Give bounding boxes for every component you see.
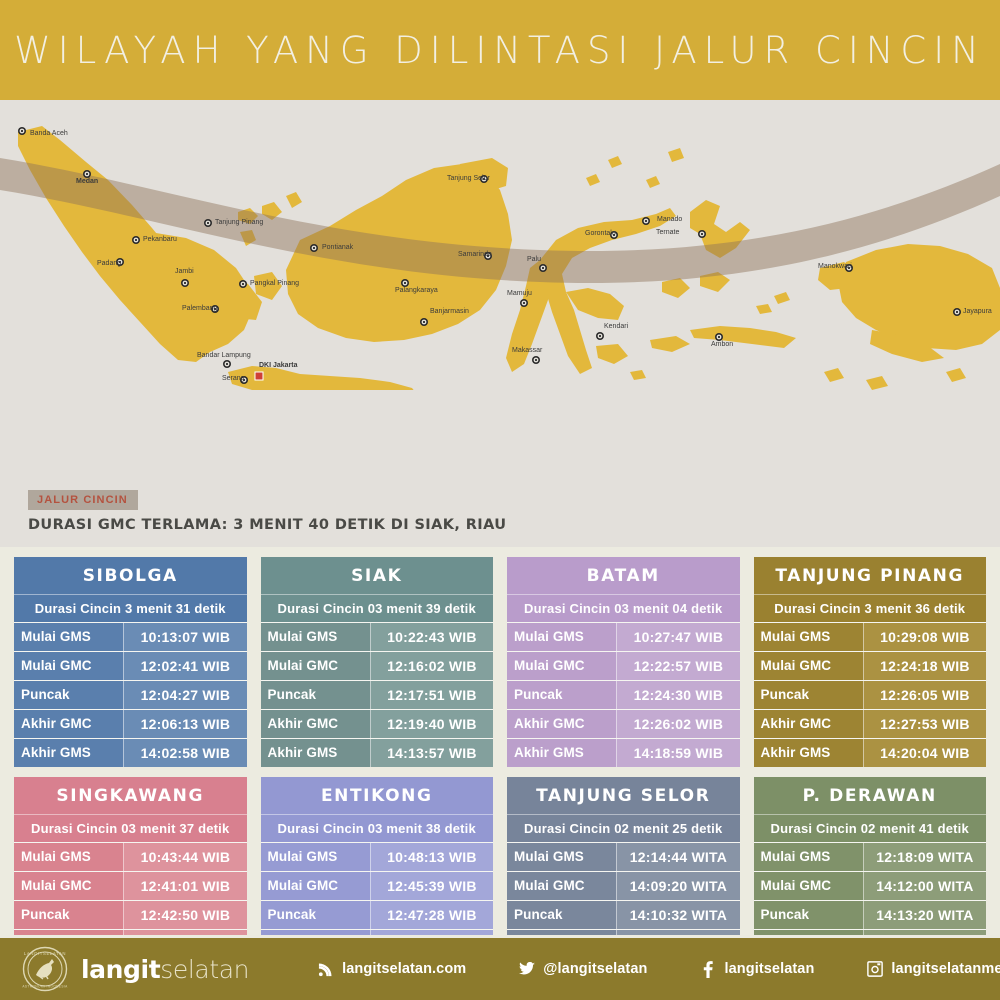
row-value: 12:41:01 WIB — [124, 872, 246, 900]
map-city-label: Gorontalo — [585, 230, 616, 237]
row-value: 12:04:27 WIB — [124, 681, 246, 709]
svg-text:ASTRONOMI INDONESIA: ASTRONOMI INDONESIA — [22, 985, 68, 989]
table-row: Mulai GMS12:18:09 WITA — [754, 842, 987, 871]
map-city-marker: Yogyakarta — [311, 411, 346, 426]
row-value: 12:24:30 WIB — [617, 681, 739, 709]
social-link-instagram[interactable]: langitselatanmedia — [866, 961, 1000, 978]
row-label: Mulai GMC — [261, 652, 371, 680]
page-title: WILAYAH YANG DILINTASI JALUR CINCIN — [14, 29, 986, 72]
card-duration: Durasi Cincin 3 menit 31 detik — [14, 594, 247, 622]
row-label: Mulai GMS — [754, 623, 864, 651]
table-row: Mulai GMC14:09:20 WITA — [507, 871, 740, 900]
timing-card-siak: SIAKDurasi Cincin 03 menit 39 detikMulai… — [261, 557, 494, 767]
row-value: 10:27:47 WIB — [617, 623, 739, 651]
table-row: Mulai GMS10:48:13 WIB — [261, 842, 494, 871]
row-value: 12:18:09 WITA — [864, 843, 986, 871]
brand-name-light: selatan — [160, 955, 249, 984]
row-value: 12:26:02 WIB — [617, 710, 739, 738]
table-row: Akhir GMS14:02:58 WIB — [14, 738, 247, 767]
table-row: Akhir GMS14:20:04 WIB — [754, 738, 987, 767]
row-value: 10:43:44 WIB — [124, 843, 246, 871]
map-city-label: Ternate — [656, 229, 679, 236]
map-city-marker: Bandung — [266, 393, 294, 408]
timing-card-sibolga: SIBOLGADurasi Cincin 3 menit 31 detikMul… — [14, 557, 247, 767]
table-row: Mulai GMS12:14:44 WITA — [507, 842, 740, 871]
map-city-marker: Padang — [97, 258, 124, 267]
map-city-marker: Bandar Lampung — [197, 352, 251, 368]
map-caption: DURASI GMC TERLAMA: 3 MENIT 40 DETIK DI … — [28, 517, 1000, 533]
twitter-label: @langitselatan — [543, 961, 647, 977]
map-city-marker: Tanjung Selor — [447, 175, 490, 183]
row-label: Akhir GMC — [261, 710, 371, 738]
map-city-marker: Kendari — [596, 323, 629, 340]
row-label: Mulai GMC — [507, 652, 617, 680]
social-link-twitter[interactable]: @langitselatan — [518, 961, 647, 978]
map-city-marker: Kupang — [789, 461, 824, 469]
map-city-label: Pontianak — [322, 244, 354, 251]
row-label: Mulai GMC — [754, 872, 864, 900]
map-city-marker: Palembang — [182, 305, 219, 313]
map-city-marker: Semarang — [311, 396, 345, 404]
map-area: Banda AcehMedanPekanbaruTanjung PinangPa… — [0, 100, 1000, 490]
map-city-marker: Mataram — [455, 433, 483, 447]
row-label: Akhir GMS — [261, 739, 371, 767]
card-title: ENTIKONG — [261, 777, 494, 814]
card-duration: Durasi Cincin 3 menit 36 detik — [754, 594, 987, 622]
map-city-marker: Denpasar — [435, 414, 466, 433]
table-row: Mulai GMS10:22:43 WIB — [261, 622, 494, 651]
legend-jalur-cincin: JALUR CINCIN — [28, 490, 138, 510]
brand-name-bold: langit — [81, 955, 160, 984]
brand-wordmark: langitselatan — [81, 955, 249, 984]
table-row: Puncak12:26:05 WIB — [754, 680, 987, 709]
map-city-label: Kupang — [800, 461, 824, 468]
row-value: 12:02:41 WIB — [124, 652, 246, 680]
twitter-icon — [518, 961, 535, 978]
table-row: Mulai GMS10:29:08 WIB — [754, 622, 987, 651]
social-link-facebook[interactable]: langitselatan — [699, 961, 814, 978]
row-label: Puncak — [754, 681, 864, 709]
map-city-label: Padang — [97, 260, 121, 267]
map-city-label: Medan — [76, 178, 98, 185]
social-links: langitselatan.com @langitselatan langits… — [317, 961, 1000, 978]
table-row: Puncak12:17:51 WIB — [261, 680, 494, 709]
map-city-label: Banjarmasin — [430, 308, 469, 315]
map-city-label: Bandung — [266, 401, 294, 408]
map-city-label: Bandar Lampung — [197, 352, 251, 359]
map-city-label: Surabaya — [368, 404, 398, 411]
row-value: 12:47:28 WIB — [371, 901, 493, 929]
rss-icon — [317, 961, 334, 978]
card-title: BATAM — [507, 557, 740, 594]
map-city-label: Manado — [657, 216, 682, 223]
landmass-group — [18, 126, 1000, 474]
row-label: Akhir GMC — [754, 710, 864, 738]
instagram-icon — [866, 961, 883, 978]
table-row: Akhir GMC12:06:13 WIB — [14, 709, 247, 738]
row-value: 14:02:58 WIB — [124, 739, 246, 767]
row-label: Mulai GMC — [261, 872, 371, 900]
social-link-website[interactable]: langitselatan.com — [317, 961, 466, 978]
map-city-marker: Surabaya — [368, 397, 398, 411]
map-city-label: Mataram — [455, 440, 483, 447]
svg-text:LANGITSELATAN: LANGITSELATAN — [24, 951, 66, 956]
row-label: Puncak — [14, 681, 124, 709]
card-title: P. DERAWAN — [754, 777, 987, 814]
card-title: SIAK — [261, 557, 494, 594]
map-city-label: Tanjung Selor — [447, 175, 490, 182]
row-value: 12:17:51 WIB — [371, 681, 493, 709]
row-label: Puncak — [14, 901, 124, 929]
card-title: SINGKAWANG — [14, 777, 247, 814]
row-value: 12:19:40 WIB — [371, 710, 493, 738]
map-city-label: Kendari — [604, 323, 629, 330]
map-city-label: Semarang — [311, 396, 343, 403]
map-city-label: Banda Aceh — [30, 130, 68, 137]
card-duration: Durasi Cincin 03 menit 04 detik — [507, 594, 740, 622]
map-caption-strip: JALUR CINCIN DURASI GMC TERLAMA: 3 MENIT… — [0, 490, 1000, 547]
table-row: Puncak14:10:32 WITA — [507, 900, 740, 929]
map-city-label: Yogyakarta — [311, 419, 346, 426]
row-label: Mulai GMC — [14, 652, 124, 680]
row-value: 12:14:44 WITA — [617, 843, 739, 871]
table-row: Mulai GMS10:43:44 WIB — [14, 842, 247, 871]
row-value: 14:12:00 WITA — [864, 872, 986, 900]
row-label: Mulai GMS — [261, 843, 371, 871]
footer-bar: LANGITSELATAN ASTRONOMI INDONESIA langit… — [0, 935, 1000, 1000]
table-row: Puncak12:04:27 WIB — [14, 680, 247, 709]
row-label: Mulai GMC — [14, 872, 124, 900]
card-duration: Durasi Cincin 03 menit 37 detik — [14, 814, 247, 842]
facebook-icon — [699, 961, 716, 978]
timing-card-batam: BATAMDurasi Cincin 03 menit 04 detikMula… — [507, 557, 740, 767]
card-duration: Durasi Cincin 02 menit 25 detik — [507, 814, 740, 842]
row-value: 14:09:20 WITA — [617, 872, 739, 900]
row-label: Akhir GMS — [507, 739, 617, 767]
row-value: 12:06:13 WIB — [124, 710, 246, 738]
card-title: TANJUNG PINANG — [754, 557, 987, 594]
table-row: Puncak14:13:20 WITA — [754, 900, 987, 929]
row-label: Mulai GMS — [754, 843, 864, 871]
row-value: 12:27:53 WIB — [864, 710, 986, 738]
row-value: 12:16:02 WIB — [371, 652, 493, 680]
map-city-label: Palangkaraya — [395, 287, 438, 294]
row-value: 14:20:04 WIB — [864, 739, 986, 767]
facebook-label: langitselatan — [724, 961, 814, 977]
table-row: Akhir GMC12:27:53 WIB — [754, 709, 987, 738]
table-row: Akhir GMC12:19:40 WIB — [261, 709, 494, 738]
map-city-label: Makassar — [512, 347, 543, 354]
map-city-label: Pangkal Pinang — [250, 280, 299, 287]
row-label: Mulai GMC — [507, 872, 617, 900]
table-row: Akhir GMS14:13:57 WIB — [261, 738, 494, 767]
map-city-label: Palembang — [182, 305, 218, 312]
indonesia-map: Banda AcehMedanPekanbaruTanjung PinangPa… — [0, 100, 1000, 490]
table-row: Puncak12:47:28 WIB — [261, 900, 494, 929]
row-value: 12:45:39 WIB — [371, 872, 493, 900]
map-city-label: Serang — [222, 375, 245, 382]
table-row: Mulai GMC12:24:18 WIB — [754, 651, 987, 680]
card-duration: Durasi Cincin 02 menit 41 detik — [754, 814, 987, 842]
row-value: 10:13:07 WIB — [124, 623, 246, 651]
table-row: Puncak12:24:30 WIB — [507, 680, 740, 709]
map-city-label: Samarinda — [458, 251, 492, 258]
map-city-label: Jayapura — [963, 308, 992, 315]
map-city-label: Tanjung Pinang — [215, 219, 263, 226]
map-city-marker: Pekanbaru — [132, 236, 177, 244]
table-row: Akhir GMS14:18:59 WIB — [507, 738, 740, 767]
row-label: Mulai GMS — [507, 843, 617, 871]
map-city-label: Ambon — [711, 341, 733, 348]
website-label: langitselatan.com — [342, 961, 466, 977]
map-city-marker: Jayapura — [953, 308, 992, 316]
map-city-label: Palu — [527, 256, 541, 263]
city-timing-cards: SIBOLGADurasi Cincin 3 menit 31 detikMul… — [0, 547, 1000, 991]
map-city-label: Denpasar — [435, 414, 466, 421]
row-label: Puncak — [754, 901, 864, 929]
row-label: Mulai GMS — [14, 623, 124, 651]
map-city-label: Pekanbaru — [143, 236, 177, 243]
row-value: 14:13:57 WIB — [371, 739, 493, 767]
table-row: Mulai GMC12:02:41 WIB — [14, 651, 247, 680]
row-value: 12:22:57 WIB — [617, 652, 739, 680]
title-bar: WILAYAH YANG DILINTASI JALUR CINCIN — [0, 0, 1000, 100]
row-value: 14:10:32 WITA — [617, 901, 739, 929]
row-label: Mulai GMS — [14, 843, 124, 871]
row-label: Puncak — [507, 901, 617, 929]
card-title: TANJUNG SELOR — [507, 777, 740, 814]
table-row: Mulai GMC12:22:57 WIB — [507, 651, 740, 680]
row-label: Akhir GMC — [14, 710, 124, 738]
map-city-label: Mamuju — [507, 290, 532, 297]
infographic-page: WILAYAH YANG DILINTASI JALUR CINCIN — [0, 0, 1000, 1000]
map-city-label: Manokwari — [818, 263, 852, 270]
card-title: SIBOLGA — [14, 557, 247, 594]
table-row: Mulai GMC12:41:01 WIB — [14, 871, 247, 900]
table-row: Mulai GMS10:27:47 WIB — [507, 622, 740, 651]
table-row: Mulai GMS10:13:07 WIB — [14, 622, 247, 651]
row-value: 10:22:43 WIB — [371, 623, 493, 651]
brand-block: LANGITSELATAN ASTRONOMI INDONESIA langit… — [22, 946, 249, 992]
card-duration: Durasi Cincin 03 menit 38 detik — [261, 814, 494, 842]
row-label: Akhir GMS — [14, 739, 124, 767]
table-row: Mulai GMC12:16:02 WIB — [261, 651, 494, 680]
row-value: 10:29:08 WIB — [864, 623, 986, 651]
row-label: Akhir GMS — [754, 739, 864, 767]
langitselatan-logo-icon: LANGITSELATAN ASTRONOMI INDONESIA — [22, 946, 68, 992]
card-duration: Durasi Cincin 03 menit 39 detik — [261, 594, 494, 622]
row-value: 12:24:18 WIB — [864, 652, 986, 680]
row-value: 12:26:05 WIB — [864, 681, 986, 709]
row-label: Puncak — [507, 681, 617, 709]
row-label: Puncak — [261, 901, 371, 929]
table-row: Mulai GMC14:12:00 WITA — [754, 871, 987, 900]
map-city-label: Jambi — [175, 268, 194, 275]
row-label: Puncak — [261, 681, 371, 709]
row-value: 14:13:20 WITA — [864, 901, 986, 929]
table-row: Mulai GMC12:45:39 WIB — [261, 871, 494, 900]
row-label: Mulai GMC — [754, 652, 864, 680]
map-city-label: DKI Jakarta — [259, 362, 298, 369]
table-row: Puncak12:42:50 WIB — [14, 900, 247, 929]
row-label: Mulai GMS — [261, 623, 371, 651]
map-city-marker: Pontianak — [310, 244, 354, 252]
row-value: 10:48:13 WIB — [371, 843, 493, 871]
row-label: Akhir GMC — [507, 710, 617, 738]
row-value: 14:18:59 WIB — [617, 739, 739, 767]
row-label: Mulai GMS — [507, 623, 617, 651]
row-value: 12:42:50 WIB — [124, 901, 246, 929]
instagram-label: langitselatanmedia — [891, 961, 1000, 977]
timing-card-tanjung-pinang: TANJUNG PINANGDurasi Cincin 3 menit 36 d… — [754, 557, 987, 767]
table-row: Akhir GMC12:26:02 WIB — [507, 709, 740, 738]
